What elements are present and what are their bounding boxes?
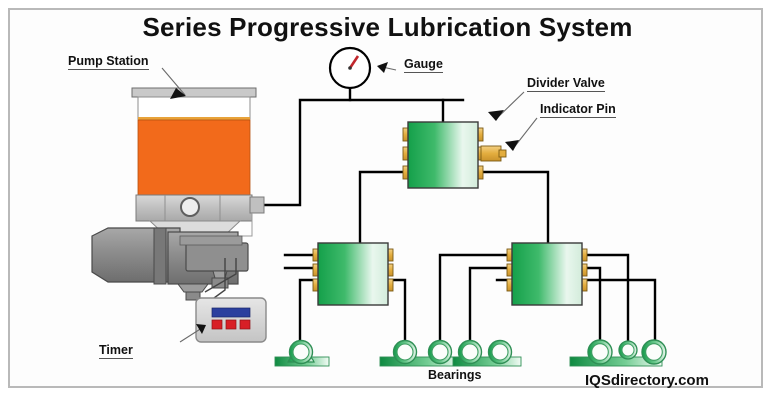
timer[interactable] — [196, 298, 266, 342]
bearing-group-1 — [275, 341, 329, 367]
label-bearings: Bearings — [428, 368, 482, 382]
bearing-group-2 — [380, 341, 460, 367]
divider-valve-left — [313, 243, 393, 305]
indicator-pin — [481, 146, 506, 161]
bearing-group-3 — [453, 341, 521, 367]
watermark: IQSdirectory.com — [585, 372, 709, 389]
diagram-canvas: Series Progressive Lubrication System — [0, 0, 775, 400]
label-gauge: Gauge — [404, 57, 443, 73]
label-timer: Timer — [99, 343, 133, 359]
label-indicator-pin: Indicator Pin — [540, 102, 616, 118]
label-pump-station: Pump Station — [68, 54, 149, 70]
label-divider-valve: Divider Valve — [527, 76, 605, 92]
timer-buttons — [212, 320, 250, 329]
pump-station — [92, 88, 264, 300]
divider-valve-main — [403, 122, 506, 188]
gauge — [330, 48, 370, 88]
divider-valve-right — [507, 243, 587, 305]
bearing-group-4 — [570, 340, 666, 366]
timer-display — [212, 308, 250, 317]
